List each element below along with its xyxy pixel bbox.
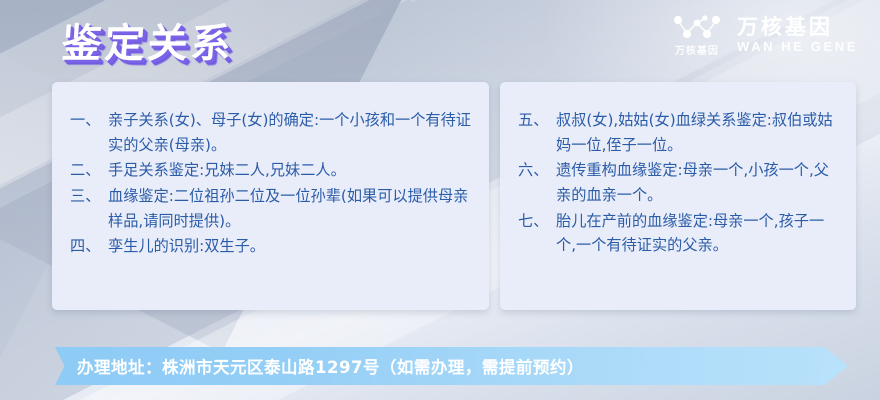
molecule-node-icon: [671, 14, 723, 40]
brand-name-en: WAN HE GENE: [737, 40, 858, 54]
relationship-list-left: 一、 亲子关系(女)、母子(女)的确定:一个小孩和一个有待证实的父亲(母亲)。 …: [70, 108, 473, 259]
panel-left: 一、 亲子关系(女)、母子(女)的确定:一个小孩和一个有待证实的父亲(母亲)。 …: [52, 82, 489, 310]
list-item-index: 二、: [70, 158, 108, 183]
relationship-list-right: 五、 叔叔(女),姑姑(女)血绿关系鉴定:叔伯或姑妈一位,侄子一位。 六、 遗传…: [518, 108, 840, 258]
list-item: 二、 手足关系鉴定:兄妹二人,兄妹二人。: [70, 158, 473, 183]
list-item-index: 一、: [70, 108, 108, 133]
list-item-index: 七、: [518, 209, 556, 234]
panel-right: 五、 叔叔(女),姑姑(女)血绿关系鉴定:叔伯或姑妈一位,侄子一位。 六、 遗传…: [500, 82, 856, 310]
list-item: 四、 孪生儿的识别:双生子。: [70, 234, 473, 259]
list-item-index: 六、: [518, 158, 556, 183]
content-panels: 一、 亲子关系(女)、母子(女)的确定:一个小孩和一个有待证实的父亲(母亲)。 …: [0, 82, 880, 312]
list-item: 三、 血缘鉴定:二位祖孙二位及一位孙辈(如果可以提供母亲样品,请同时提供)。: [70, 184, 473, 233]
address-text: 办理地址：株洲市天元区泰山路1297号（如需办理，需提前预约）: [55, 354, 584, 378]
list-item-index: 三、: [70, 184, 108, 209]
list-item-text: 手足关系鉴定:兄妹二人,兄妹二人。: [108, 158, 473, 183]
brand-mark: 万核基因: [671, 14, 723, 57]
brand-logo: 万核基因 万核基因 WAN HE GENE: [671, 14, 858, 57]
list-item-text: 胎儿在产前的血缘鉴定:母亲一个,孩子一个,一个有待证实的父亲。: [556, 209, 840, 258]
brand-text: 万核基因 WAN HE GENE: [737, 16, 858, 54]
list-item-text: 叔叔(女),姑姑(女)血绿关系鉴定:叔伯或姑妈一位,侄子一位。: [556, 108, 840, 157]
list-item-index: 五、: [518, 108, 556, 133]
list-item: 五、 叔叔(女),姑姑(女)血绿关系鉴定:叔伯或姑妈一位,侄子一位。: [518, 108, 840, 157]
list-item: 六、 遗传重构血缘鉴定:母亲一个,小孩一个,父亲的血亲一个。: [518, 158, 840, 207]
list-item-text: 亲子关系(女)、母子(女)的确定:一个小孩和一个有待证实的父亲(母亲)。: [108, 108, 473, 157]
address-ribbon: 办理地址：株洲市天元区泰山路1297号（如需办理，需提前预约）: [55, 347, 848, 385]
page-title: 鉴定关系: [60, 11, 236, 69]
header: 鉴定关系 万核基因: [0, 0, 880, 82]
list-item-text: 遗传重构血缘鉴定:母亲一个,小孩一个,父亲的血亲一个。: [556, 158, 840, 207]
list-item-index: 四、: [70, 234, 108, 259]
brand-mark-caption: 万核基因: [675, 42, 719, 57]
brand-name-cn: 万核基因: [737, 16, 858, 39]
list-item: 一、 亲子关系(女)、母子(女)的确定:一个小孩和一个有待证实的父亲(母亲)。: [70, 108, 473, 157]
list-item: 七、 胎儿在产前的血缘鉴定:母亲一个,孩子一个,一个有待证实的父亲。: [518, 209, 840, 258]
list-item-text: 孪生儿的识别:双生子。: [108, 234, 473, 259]
list-item-text: 血缘鉴定:二位祖孙二位及一位孙辈(如果可以提供母亲样品,请同时提供)。: [108, 184, 473, 233]
